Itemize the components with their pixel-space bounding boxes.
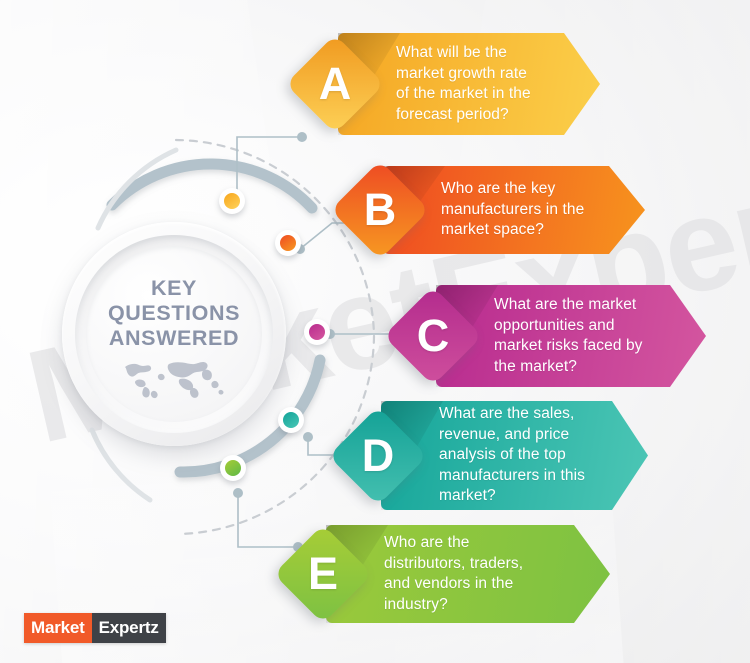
banner-a-text: What will be the market growth rate of t…: [396, 33, 540, 135]
banner-e-letter: E: [288, 539, 358, 609]
center-title: KEY QUESTIONS ANSWERED: [86, 276, 262, 351]
center-title-line-2: QUESTIONS: [86, 301, 262, 326]
banner-d[interactable]: D What are the sales, revenue, and price…: [343, 401, 648, 510]
banner-e[interactable]: E Who are the distributors, traders, and…: [288, 525, 610, 623]
banner-b-letter: B: [345, 175, 415, 245]
arc-dot-b-fill: [280, 235, 296, 251]
arc-dot-a-fill: [224, 193, 240, 209]
arc-dot-a[interactable]: [219, 188, 245, 214]
arc-dot-d[interactable]: [278, 407, 304, 433]
circle-inner-face: KEY QUESTIONS ANSWERED: [86, 246, 262, 422]
banner-c-text: What are the market opportunities and ma…: [494, 285, 646, 387]
world-map-icon: [116, 356, 232, 402]
arc-dot-e[interactable]: [220, 455, 246, 481]
center-title-line-1: KEY: [86, 276, 262, 301]
center-title-line-3: ANSWERED: [86, 326, 262, 351]
banner-a-letter: A: [300, 49, 370, 119]
arc-dot-d-fill: [283, 412, 299, 428]
infographic-canvas: MarketExpertz: [0, 0, 750, 663]
banner-e-text: Who are the distributors, traders, and v…: [384, 525, 550, 623]
banner-b-text: Who are the key manufacturers in the mar…: [441, 166, 585, 254]
banner-c[interactable]: C What are the market opportunities and …: [398, 285, 706, 387]
arc-dot-b[interactable]: [275, 230, 301, 256]
arc-dot-c-fill: [309, 324, 325, 340]
brand-logo[interactable]: Market Expertz: [24, 613, 166, 643]
center-circle: KEY QUESTIONS ANSWERED: [62, 222, 286, 446]
logo-market-text: Market: [24, 613, 92, 643]
banner-d-text: What are the sales, revenue, and price a…: [439, 401, 588, 510]
banner-a[interactable]: A What will be the market growth rate of…: [300, 33, 600, 135]
banner-d-letter: D: [343, 421, 413, 491]
arc-dot-c[interactable]: [304, 319, 330, 345]
banner-b[interactable]: B Who are the key manufacturers in the m…: [345, 166, 645, 254]
logo-expertz-text: Expertz: [92, 613, 166, 643]
arc-dot-e-fill: [225, 460, 241, 476]
banner-c-letter: C: [398, 301, 468, 371]
